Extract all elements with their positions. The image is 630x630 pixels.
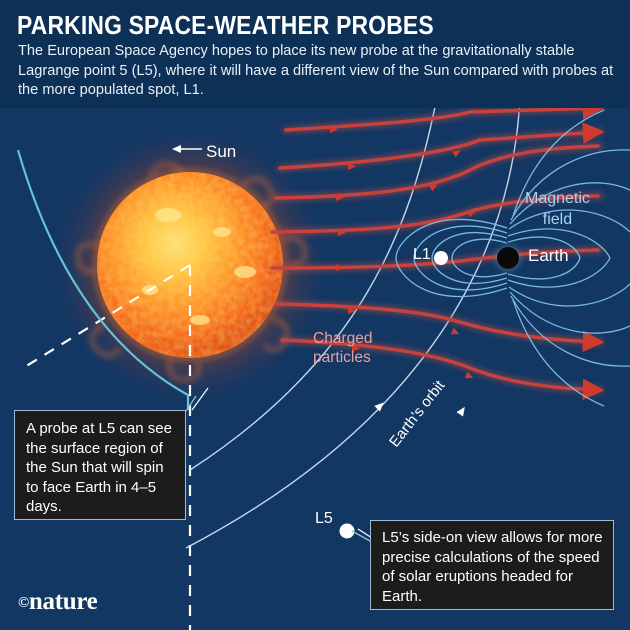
sun-label: Sun xyxy=(172,142,236,162)
charged-particles-label: Charged particles xyxy=(313,329,372,367)
callout-left-l5-view: A probe at L5 can see the surface region… xyxy=(14,410,186,520)
l1-marker xyxy=(434,251,448,265)
magnetic-field-label: Magnetic field xyxy=(525,188,590,230)
page-title: PARKING SPACE-WEATHER PROBES xyxy=(17,10,434,40)
charged-particles-line2: particles xyxy=(313,348,372,367)
page-subtitle: The European Space Agency hopes to place… xyxy=(18,42,618,101)
sun-label-text: Sun xyxy=(206,142,236,161)
callout-right-l5-sideon: L5’s side-on view allows for more precis… xyxy=(370,520,614,610)
earth-graphic xyxy=(489,239,527,277)
earth-label: Earth xyxy=(528,246,569,266)
magnetic-field-label-line2: field xyxy=(525,209,590,230)
sun-pointer-arrow xyxy=(172,143,204,155)
charged-particles-line1: Charged xyxy=(313,329,372,348)
nature-wordmark: nature xyxy=(29,588,98,615)
l1-label: L1 xyxy=(413,246,431,264)
infographic-root: PARKING SPACE-WEATHER PROBES The Europea… xyxy=(0,0,630,630)
nature-logo: ©nature xyxy=(18,588,97,616)
magnetic-field-label-line1: Magnetic xyxy=(525,188,590,209)
l5-label: L5 xyxy=(315,510,333,528)
copyright-icon: © xyxy=(18,595,29,611)
header-band: PARKING SPACE-WEATHER PROBES The Europea… xyxy=(0,0,630,108)
